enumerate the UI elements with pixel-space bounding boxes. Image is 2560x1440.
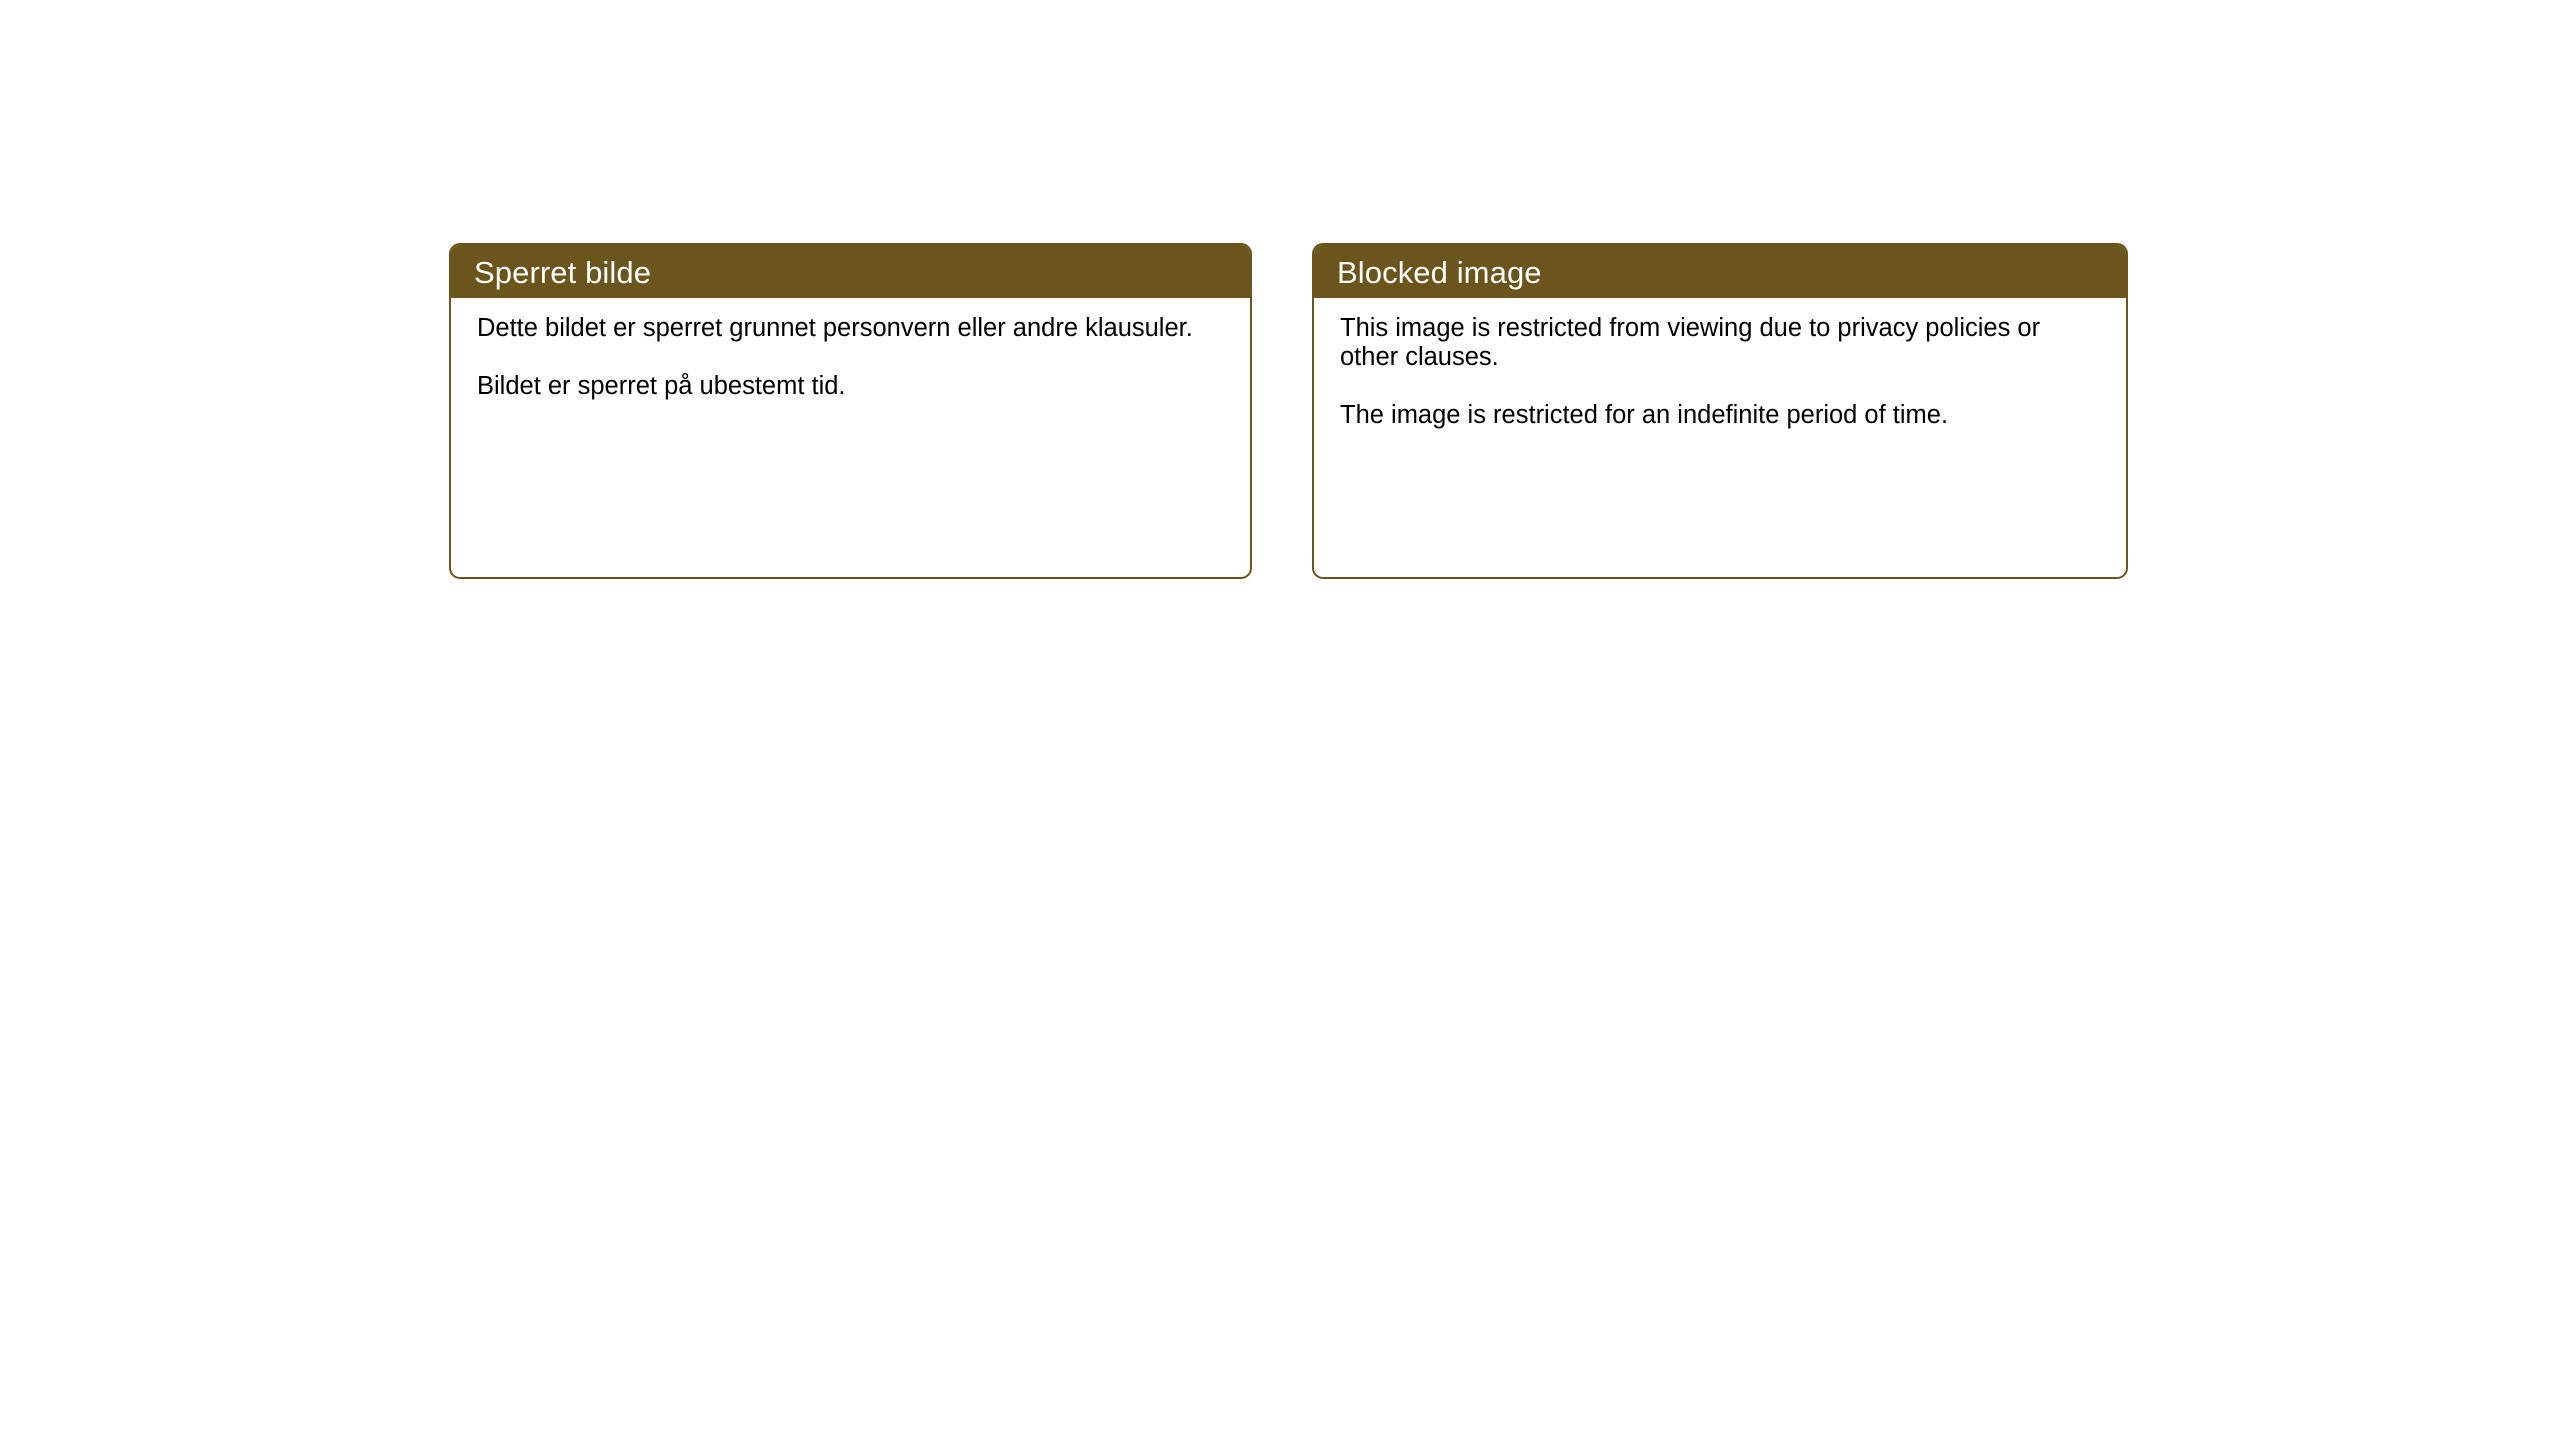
card-header-english: Blocked image (1313, 244, 2127, 298)
card-body-norwegian: Dette bildet er sperret grunnet personve… (451, 298, 1250, 401)
page-canvas: Sperret bilde Dette bildet er sperret gr… (0, 0, 2560, 1440)
blocked-image-notice-card-english: Blocked image This image is restricted f… (1312, 243, 2128, 579)
card-paragraph-privacy-norwegian: Dette bildet er sperret grunnet personve… (477, 314, 1224, 343)
card-header-norwegian: Sperret bilde (450, 244, 1251, 298)
card-body-english: This image is restricted from viewing du… (1314, 298, 2126, 430)
card-paragraph-duration-english: The image is restricted for an indefinit… (1340, 401, 2100, 430)
blocked-image-notice-card-norwegian: Sperret bilde Dette bildet er sperret gr… (449, 243, 1252, 579)
card-title-norwegian: Sperret bilde (474, 257, 651, 288)
card-title-english: Blocked image (1337, 257, 1542, 288)
card-paragraph-duration-norwegian: Bildet er sperret på ubestemt tid. (477, 372, 1224, 401)
card-paragraph-privacy-english: This image is restricted from viewing du… (1340, 314, 2100, 372)
